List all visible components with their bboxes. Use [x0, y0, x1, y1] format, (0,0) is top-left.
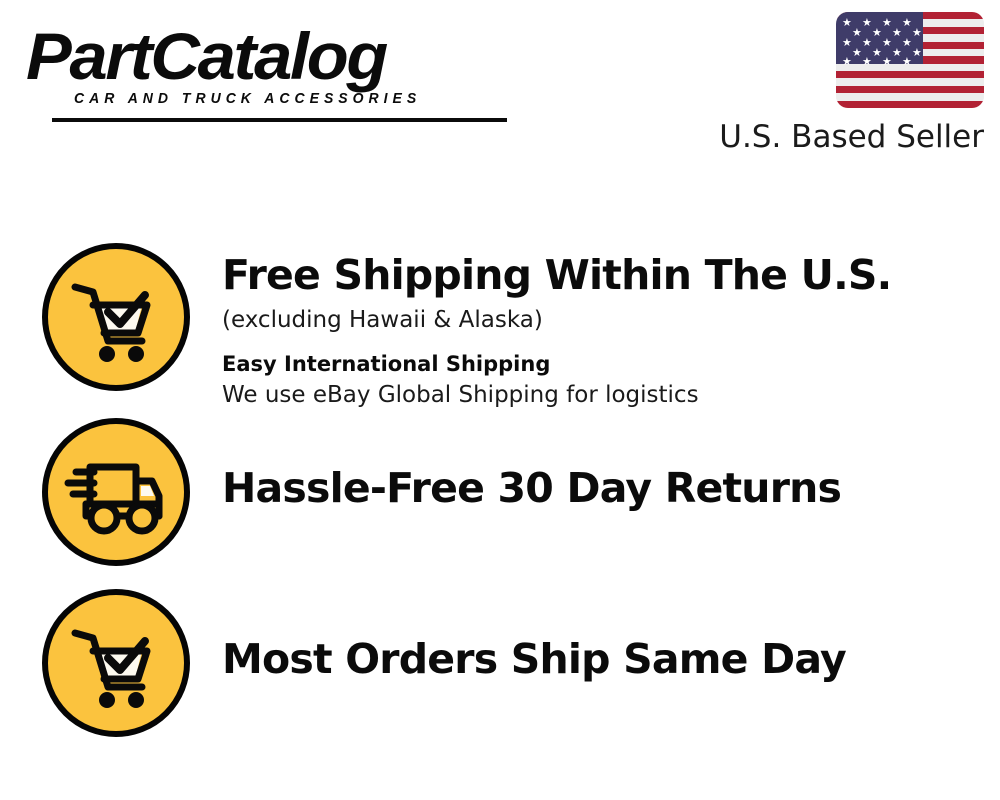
- brand-tagline: CAR AND TRUCK ACCESSORIES: [74, 90, 421, 107]
- brand-wordmark: PartCatalog: [26, 22, 515, 90]
- us-flag-icon: ★ ★ ★ ★ ★ ★ ★ ★ ★ ★ ★ ★ ★ ★ ★ ★ ★: [836, 12, 984, 108]
- feature-row-returns: Hassle-Free 30 Day Returns: [0, 418, 1000, 566]
- brand-logo: PartCatalog CAR AND TRUCK ACCESSORIES: [26, 22, 496, 114]
- feature-text-returns: Hassle-Free 30 Day Returns: [222, 418, 1000, 512]
- feature-sub-detail: We use eBay Global Shipping for logistic…: [222, 380, 1000, 410]
- feature-subline: (excluding Hawaii & Alaska): [222, 305, 1000, 336]
- brand-underline: [52, 118, 507, 122]
- feature-text-same-day-ship: Most Orders Ship Same Day: [222, 589, 1000, 683]
- shopping-cart-check-icon: [42, 589, 190, 737]
- feature-row-same-day-ship: Most Orders Ship Same Day: [0, 589, 1000, 737]
- flag-canton: ★ ★ ★ ★ ★ ★ ★ ★ ★ ★ ★ ★ ★ ★ ★ ★ ★: [836, 12, 923, 64]
- feature-headline: Hassle-Free 30 Day Returns: [222, 464, 1000, 512]
- feature-row-free-shipping: Free Shipping Within The U.S. (excluding…: [0, 243, 1000, 410]
- delivery-truck-icon: [42, 418, 190, 566]
- feature-sub-heading: Easy International Shipping: [222, 350, 1000, 378]
- feature-text-free-shipping: Free Shipping Within The U.S. (excluding…: [222, 243, 1000, 410]
- seller-badge: ★ ★ ★ ★ ★ ★ ★ ★ ★ ★ ★ ★ ★ ★ ★ ★ ★: [698, 12, 998, 155]
- shopping-cart-check-icon: [42, 243, 190, 391]
- promo-banner: PartCatalog CAR AND TRUCK ACCESSORIES: [0, 0, 1000, 800]
- feature-headline: Most Orders Ship Same Day: [222, 635, 1000, 683]
- banner-header: PartCatalog CAR AND TRUCK ACCESSORIES: [0, 0, 1000, 170]
- seller-badge-label: U.S. Based Seller: [698, 119, 998, 155]
- feature-headline: Free Shipping Within The U.S.: [222, 251, 1000, 299]
